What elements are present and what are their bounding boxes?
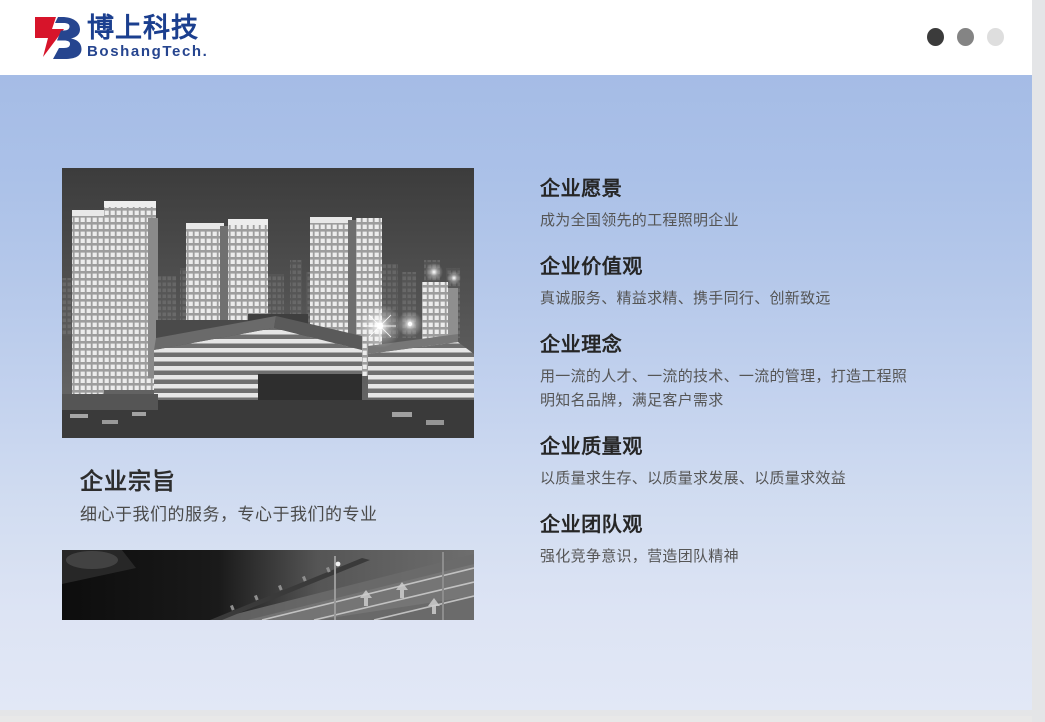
culture-item-values: 企业价值观 真诚服务、精益求精、携手同行、创新致远 (540, 253, 970, 310)
culture-item-title: 企业质量观 (540, 433, 970, 460)
corporate-purpose-title: 企业宗旨 (80, 468, 474, 498)
highway-night-photo (62, 550, 474, 620)
culture-item-title: 企业团队观 (540, 511, 970, 538)
city-skyline-night-image (62, 168, 474, 438)
right-column: 企业愿景 成为全国领先的工程照明企业 企业价值观 真诚服务、精益求精、携手同行、… (540, 175, 970, 568)
brand-name-cn: 博上科技 (87, 15, 208, 42)
carousel-dot-3[interactable] (987, 28, 1004, 46)
highway-night-image (62, 550, 474, 620)
carousel-dot-2[interactable] (957, 28, 974, 46)
site-header: 博上科技 BoshangTech. (0, 0, 1032, 75)
culture-item-text: 用一流的人才、一流的技术、一流的管理，打造工程照明知名品牌，满足客户需求 (540, 364, 912, 412)
left-column: 企业宗旨 细心于我们的服务，专心于我们的专业 (62, 168, 474, 620)
culture-item-team: 企业团队观 强化竞争意识，营造团队精神 (540, 511, 970, 568)
vertical-scrollbar[interactable] (1032, 0, 1045, 722)
culture-item-philosophy: 企业理念 用一流的人才、一流的技术、一流的管理，打造工程照明知名品牌，满足客户需… (540, 331, 970, 412)
culture-item-title: 企业理念 (540, 331, 970, 358)
browser-viewport: 博上科技 BoshangTech. (0, 0, 1045, 722)
page-bottom-strip (0, 710, 1032, 716)
culture-item-text: 强化竞争意识，营造团队精神 (540, 544, 912, 568)
culture-item-text: 以质量求生存、以质量求发展、以质量求效益 (540, 466, 912, 490)
corporate-purpose-block: 企业宗旨 细心于我们的服务，专心于我们的专业 (62, 468, 474, 528)
boshang-logo-mark-icon (33, 14, 83, 60)
culture-item-title: 企业价值观 (540, 253, 970, 280)
carousel-pagination[interactable] (927, 28, 1004, 46)
content-row: 企业宗旨 细心于我们的服务，专心于我们的专业 (0, 75, 1032, 716)
culture-item-text: 成为全国领先的工程照明企业 (540, 208, 912, 232)
city-skyline-night-photo (62, 168, 474, 438)
culture-item-vision: 企业愿景 成为全国领先的工程照明企业 (540, 175, 970, 232)
page-root: 博上科技 BoshangTech. (0, 0, 1032, 716)
culture-item-quality: 企业质量观 以质量求生存、以质量求发展、以质量求效益 (540, 433, 970, 490)
brand-wordmark: 博上科技 BoshangTech. (87, 15, 208, 59)
brand-logo[interactable]: 博上科技 BoshangTech. (33, 11, 208, 63)
culture-item-text: 真诚服务、精益求精、携手同行、创新致远 (540, 286, 912, 310)
corporate-culture-panel: 企业宗旨 细心于我们的服务，专心于我们的专业 (0, 75, 1032, 716)
brand-name-en: BoshangTech. (87, 44, 208, 59)
carousel-dot-1[interactable] (927, 28, 944, 46)
corporate-purpose-text: 细心于我们的服务，专心于我们的专业 (80, 503, 474, 528)
scrollbar-thumb[interactable] (1034, 0, 1043, 250)
culture-item-title: 企业愿景 (540, 175, 970, 202)
